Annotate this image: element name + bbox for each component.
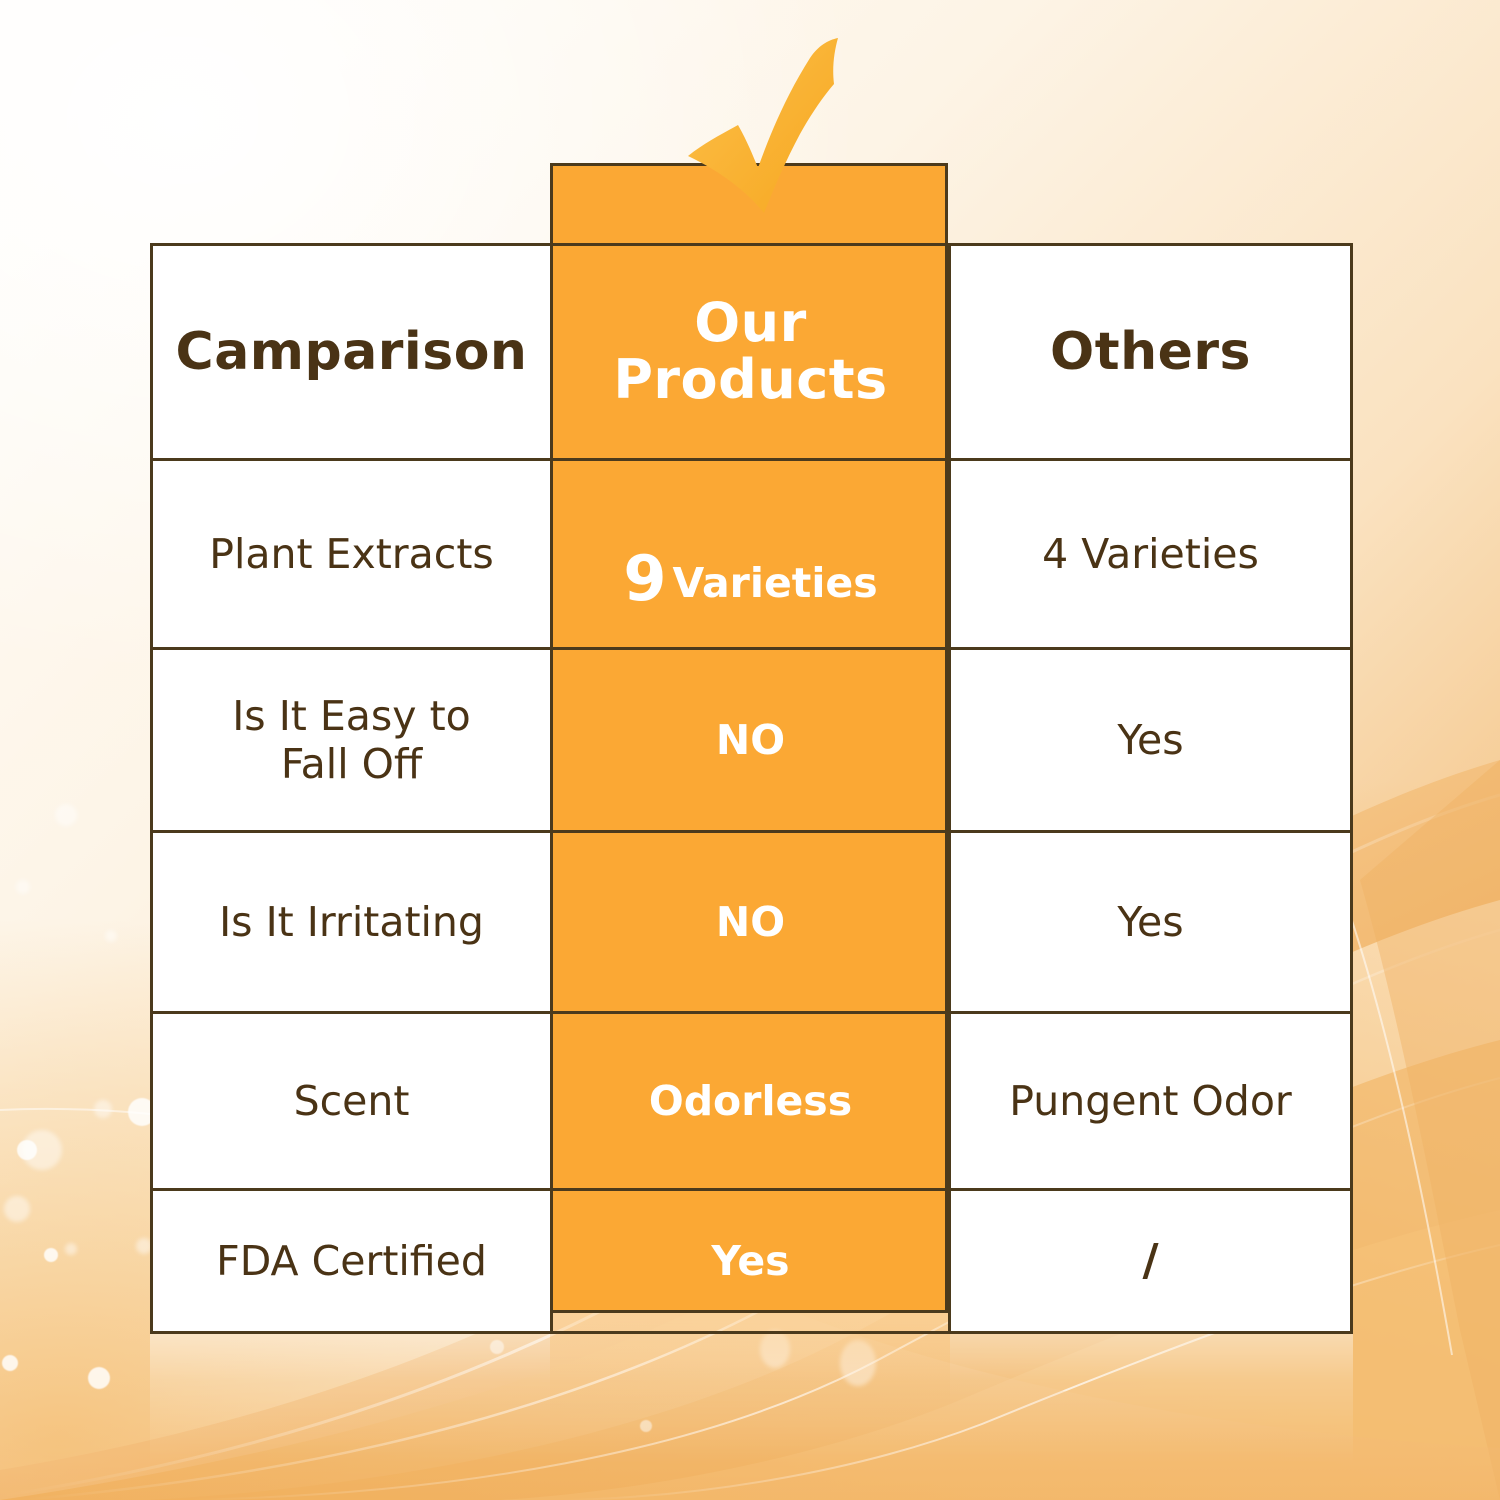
feature-label: Is It Irritating <box>163 898 540 946</box>
ours-value: NO <box>563 898 938 946</box>
table-row: FDA Certified Yes / <box>152 1190 1352 1333</box>
check-mark-icon <box>682 38 852 213</box>
bokeh-dot <box>760 1330 790 1368</box>
ours-value: 9Varieties <box>563 493 938 615</box>
table-row: Scent Odorless Pungent Odor <box>152 1013 1352 1190</box>
ours-cell-fda-certified: Yes <box>552 1190 950 1333</box>
header-label-others: Others <box>961 325 1340 380</box>
feature-cell-irritating: Is It Irritating <box>152 832 552 1013</box>
ours-cell-plant-extracts: 9Varieties <box>552 460 950 649</box>
others-value: Pungent Odor <box>961 1077 1340 1125</box>
feature-cell-plant-extracts: Plant Extracts <box>152 460 552 649</box>
bokeh-dot <box>55 804 77 826</box>
header-cell-others: Others <box>950 245 1352 460</box>
others-cell-easy-to-fall-off: Yes <box>950 649 1352 832</box>
ours-cell-irritating: NO <box>552 832 950 1013</box>
ours-value: NO <box>563 716 938 764</box>
ours-cell-easy-to-fall-off: NO <box>552 649 950 832</box>
feature-label: Is It Easy to Fall Off <box>163 692 540 789</box>
others-value: / <box>961 1235 1340 1287</box>
feature-cell-easy-to-fall-off: Is It Easy to Fall Off <box>152 649 552 832</box>
ours-value-number: 9 <box>623 542 666 615</box>
ours-value: Yes <box>563 1237 938 1285</box>
header-label-comparison: Camparison <box>163 325 540 380</box>
bokeh-dot <box>22 1130 62 1170</box>
header-cell-comparison: Camparison <box>152 245 552 460</box>
bokeh-dot <box>490 1340 504 1354</box>
header-label-our: Our <box>694 291 806 354</box>
ours-cell-scent: Odorless <box>552 1013 950 1190</box>
bokeh-dot <box>2 1355 18 1371</box>
ours-value-unit: Varieties <box>673 559 878 607</box>
bokeh-dot <box>44 1248 58 1262</box>
comparison-table: Camparison Our Products Others Plant <box>150 243 1353 1334</box>
feature-cell-scent: Scent <box>152 1013 552 1190</box>
table-header-row: Camparison Our Products Others <box>152 245 1352 460</box>
bokeh-dot <box>65 1243 77 1255</box>
feature-label: Scent <box>163 1077 540 1125</box>
bokeh-dot <box>16 880 30 894</box>
others-value: 4 Varieties <box>961 530 1340 578</box>
feature-label: Plant Extracts <box>163 530 540 578</box>
bokeh-dot <box>840 1340 876 1386</box>
comparison-infographic: Camparison Our Products Others Plant <box>0 0 1500 1500</box>
header-label-our-products: Our Products <box>563 295 938 408</box>
header-cell-our-products: Our Products <box>552 245 950 460</box>
table-row: Is It Easy to Fall Off NO Yes <box>152 649 1352 832</box>
others-cell-fda-certified: / <box>950 1190 1352 1333</box>
ours-value: Odorless <box>563 1077 938 1125</box>
bokeh-dot <box>4 1196 30 1222</box>
others-cell-scent: Pungent Odor <box>950 1013 1352 1190</box>
others-value: Yes <box>961 898 1340 946</box>
comparison-table-wrapper: Camparison Our Products Others Plant <box>150 243 1350 1313</box>
table-row: Plant Extracts 9Varieties 4 Varieties <box>152 460 1352 649</box>
feature-label: FDA Certified <box>163 1237 540 1285</box>
bokeh-dot <box>88 1367 110 1389</box>
bokeh-dot <box>105 930 117 942</box>
others-cell-irritating: Yes <box>950 832 1352 1013</box>
others-value: Yes <box>961 716 1340 764</box>
others-cell-plant-extracts: 4 Varieties <box>950 460 1352 649</box>
bokeh-dot <box>94 1100 112 1118</box>
table-row: Is It Irritating NO Yes <box>152 832 1352 1013</box>
feature-cell-fda-certified: FDA Certified <box>152 1190 552 1333</box>
header-label-products: Products <box>563 352 938 409</box>
bokeh-dot <box>640 1420 652 1432</box>
